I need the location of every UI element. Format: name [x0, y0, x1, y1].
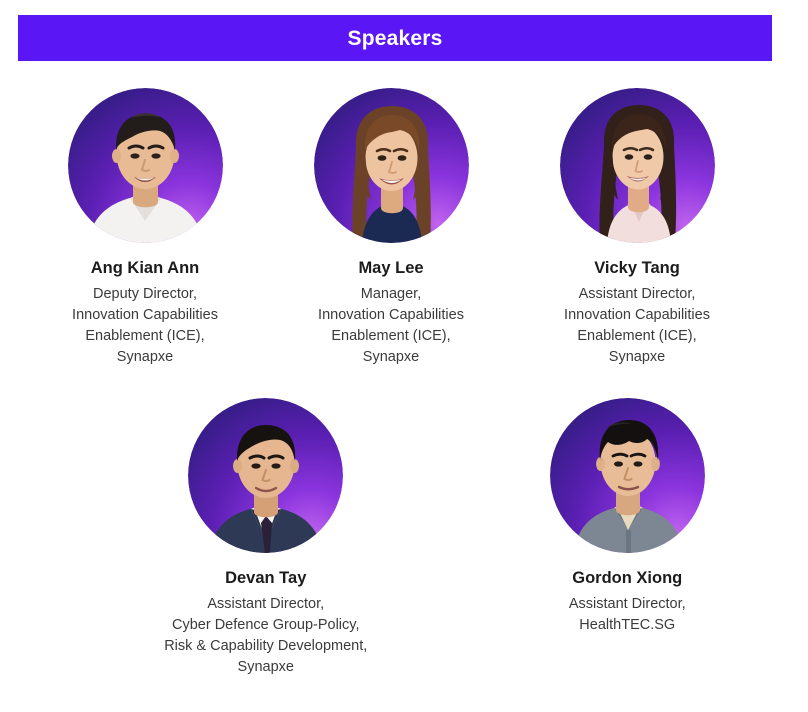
speaker-name: Ang Kian Ann [91, 259, 199, 279]
speakers-header-bar: Speakers [18, 15, 772, 61]
speaker-role: Deputy Director, Innovation Capabilities… [72, 284, 218, 368]
speaker-card-vicky-tang: Vicky Tang Assistant Director, Innovatio… [514, 88, 760, 368]
speaker-card-may-lee: May Lee Manager, Innovation Capabilities… [268, 88, 514, 368]
avatar-gordon-xiong [550, 398, 705, 553]
portrait-woman-pink-top-icon [560, 88, 715, 243]
speaker-role: Assistant Director, Innovation Capabilit… [564, 284, 710, 368]
portrait-man-white-shirt-icon [68, 88, 223, 243]
avatar-devan-tay [188, 398, 343, 553]
avatar-ang-kian-ann [68, 88, 223, 243]
avatar-vicky-tang [560, 88, 715, 243]
avatar-may-lee [314, 88, 469, 243]
portrait-man-grey-shirt-icon [550, 398, 705, 553]
speaker-name: Vicky Tang [594, 259, 680, 279]
speaker-card-ang-kian-ann: Ang Kian Ann Deputy Director, Innovation… [22, 88, 268, 368]
speakers-page: Speakers [0, 0, 808, 712]
page-title: Speakers [347, 28, 442, 49]
speaker-role: Manager, Innovation Capabilities Enablem… [318, 284, 464, 368]
speakers-row-1: Ang Kian Ann Deputy Director, Innovation… [0, 88, 808, 368]
speaker-card-devan-tay: Devan Tay Assistant Director, Cyber Defe… [85, 398, 447, 678]
speaker-role: Assistant Director, Cyber Defence Group-… [164, 594, 367, 678]
portrait-man-navy-suit-icon [188, 398, 343, 553]
speaker-card-gordon-xiong: Gordon Xiong Assistant Director, HealthT… [447, 398, 808, 678]
speaker-role: Assistant Director, HealthTEC.SG [569, 594, 686, 636]
speaker-name: Devan Tay [225, 569, 306, 589]
speaker-name: May Lee [358, 259, 423, 279]
speaker-name: Gordon Xiong [572, 569, 682, 589]
portrait-woman-long-brown-hair-icon [314, 88, 469, 243]
speakers-row-2: Devan Tay Assistant Director, Cyber Defe… [0, 398, 808, 678]
